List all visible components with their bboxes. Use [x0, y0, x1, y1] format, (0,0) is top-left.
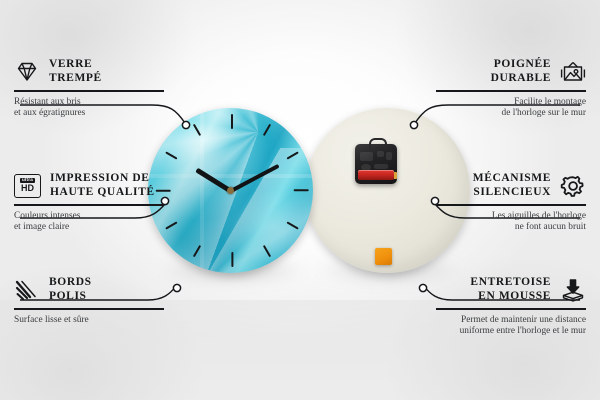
- callout-poignee-durable[interactable]: POIGNÉE DURABLE Facilite le montage de l…: [386, 58, 586, 120]
- callout-title: MÉCANISME SILENCIEUX: [473, 172, 551, 199]
- hanging-picture-frame-icon: [560, 60, 586, 84]
- callout-entretoise-en-mousse[interactable]: ENTRETOISE EN MOUSSE Permet de maintenir…: [386, 276, 586, 338]
- callout-subtitle: Permet de maintenir une distance uniform…: [386, 315, 586, 338]
- foam-spacer: [375, 248, 392, 265]
- gear-icon: [560, 174, 586, 198]
- callout-rule: [14, 90, 164, 92]
- callout-title: BORDS POLIS: [49, 276, 92, 303]
- callout-subtitle: Couleurs intenses et image claire: [14, 211, 214, 234]
- callout-subtitle: Surface lisse et sûre: [14, 315, 214, 327]
- diamond-icon: [14, 60, 40, 84]
- infographic-stage: VERRE TREMPÉ Résistant aux bris et aux é…: [0, 0, 600, 400]
- callout-rule: [436, 308, 586, 310]
- callout-rule: [436, 204, 586, 206]
- callout-title: ENTRETOISE EN MOUSSE: [470, 276, 551, 303]
- callout-verre-trempe[interactable]: VERRE TREMPÉ Résistant aux bris et aux é…: [14, 58, 214, 120]
- callout-title: IMPRESSION DE HAUTE QUALITÉ: [50, 172, 155, 199]
- callout-title: VERRE TREMPÉ: [49, 58, 102, 85]
- callout-rule: [436, 90, 586, 92]
- badge-hd-label: HD: [21, 184, 34, 193]
- callout-impression-haute-qualite[interactable]: ultra HD IMPRESSION DE HAUTE QUALITÉ Cou…: [14, 172, 214, 234]
- ultra-hd-badge-icon: ultra HD: [14, 174, 41, 198]
- callout-subtitle: Les aiguilles de l'horloge ne font aucun…: [386, 211, 586, 234]
- callout-subtitle: Facilite le montage de l'horloge sur le …: [386, 97, 586, 120]
- callout-subtitle: Résistant aux bris et aux égratignures: [14, 97, 214, 120]
- mechanism-hanger-icon: [369, 138, 387, 149]
- callout-bords-polis[interactable]: BORDS POLIS Surface lisse et sûre: [14, 276, 214, 326]
- arrow-onto-layers-icon: [560, 278, 586, 302]
- callout-mecanisme-silencieux[interactable]: MÉCANISME SILENCIEUX Les aiguilles de l'…: [386, 172, 586, 234]
- clock-tick: [231, 252, 233, 267]
- callout-rule: [14, 308, 164, 310]
- clock-center-cap: [227, 187, 234, 194]
- polished-edges-icon: [14, 278, 40, 302]
- callout-rule: [14, 204, 164, 206]
- callout-title: POIGNÉE DURABLE: [491, 58, 551, 85]
